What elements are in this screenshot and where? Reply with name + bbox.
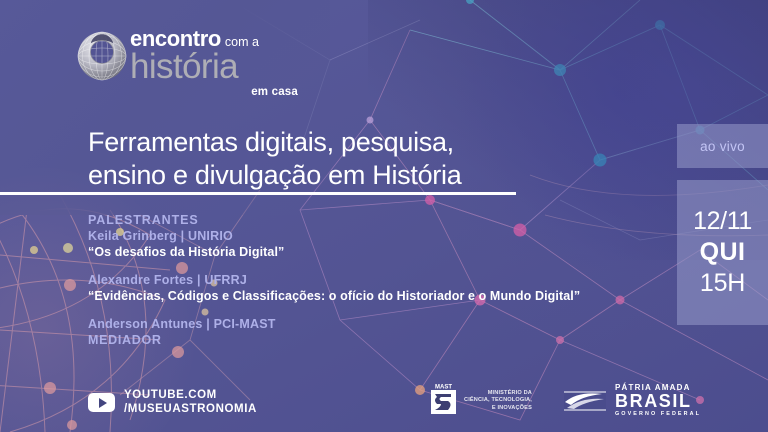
event-hour: 15H [700,268,745,299]
brand-logo: encontrocom a história em casa [74,26,324,104]
title-line-2: ensino e divulgação em História [88,159,548,192]
speaker-entry-1: PALESTRANTES Keila Grinberg | UNIRIO “Os… [88,212,668,261]
speaker-2-name: Alexandre Fortes | UFRRJ [88,272,668,288]
title-line-1: Ferramentas digitais, pesquisa, [88,126,548,159]
speaker-1-name: Keila Grinberg | UNIRIO [88,228,668,244]
brasil-line-3: GOVERNO FEDERAL [615,410,701,418]
title-divider [0,192,516,195]
ministry-line-3: E INOVAÇÕES [464,405,532,412]
event-weekday: QUI [700,236,746,268]
page-title: Ferramentas digitais, pesquisa, ensino e… [88,126,548,192]
mast-logo: MAST MINISTÉRIO DA CIÊNCIA, TECNOLOGIA, … [430,383,532,415]
speakers-section: PALESTRANTES Keila Grinberg | UNIRIO “Os… [88,212,668,359]
mediator-role: MEDIADOR [88,332,668,348]
youtube-url: YOUTUBE.COM /MUSEUASTRONOMIA [124,389,257,416]
brasil-flag-swoosh-icon [562,388,608,414]
brasil-logo: PÁTRIA AMADA BRASIL GOVERNO FEDERAL [562,383,701,418]
mast-logo-icon: MAST [430,383,457,415]
speaker-2-talk: “Evidências, Códigos e Classificações: o… [88,288,668,305]
brasil-line-2: BRASIL [615,392,701,410]
brand-wordmark: encontrocom a história em casa [130,26,330,98]
brand-line3: em casa [130,86,298,98]
wireframe-globe-icon [74,28,130,84]
brasil-wordmark: PÁTRIA AMADA BRASIL GOVERNO FEDERAL [615,383,701,418]
mast-wordmark: MAST [435,385,452,391]
live-badge: ao vivo [677,124,768,168]
youtube-url-line2: /MUSEUASTRONOMIA [124,403,257,415]
speaker-entry-2: Alexandre Fortes | UFRRJ “Evidências, Có… [88,272,668,305]
mediator-name: Anderson Antunes | PCI-MAST [88,316,668,332]
date-panel: 12/11 QUI 15H [677,180,768,325]
brand-line2: história [130,50,330,84]
ministry-line-2: CIÊNCIA, TECNOLOGIA, [464,397,532,404]
youtube-url-line1: YOUTUBE.COM [124,389,217,401]
youtube-link[interactable]: YOUTUBE.COM /MUSEUASTRONOMIA [88,389,257,416]
event-date: 12/11 [693,206,752,236]
mediator-entry: Anderson Antunes | PCI-MAST MEDIADOR [88,316,668,348]
speakers-kicker: PALESTRANTES [88,212,668,228]
ministry-text: MINISTÉRIO DA CIÊNCIA, TECNOLOGIA, E INO… [464,386,532,412]
youtube-play-icon [88,393,115,412]
speaker-1-talk: “Os desafios da História Digital” [88,244,668,261]
live-badge-label: ao vivo [700,139,745,154]
event-banner: encontrocom a história em casa Ferrament… [0,0,768,432]
